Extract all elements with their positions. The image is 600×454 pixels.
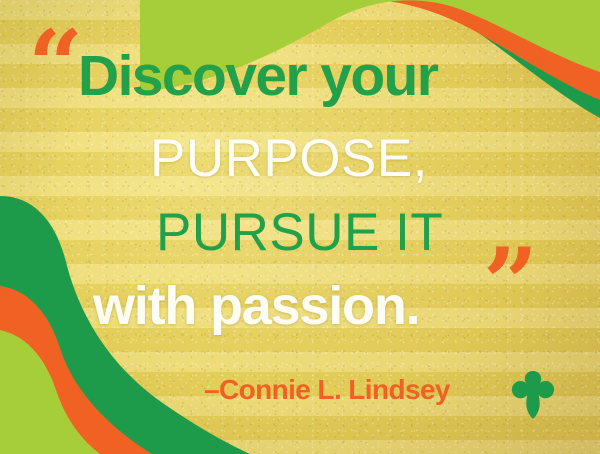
opening-quote-mark: “ <box>28 18 81 114</box>
quote-poster: “ Discover your PURPOSE, PURSUE IT with … <box>0 0 600 454</box>
quote-line-4: with passion. <box>93 279 419 333</box>
quote-line-2: PURPOSE, <box>150 132 428 185</box>
quote-line-3: PURSUE IT <box>156 206 443 259</box>
quote-line-1: Discover your <box>78 48 437 105</box>
girl-scouts-trefoil-icon <box>509 369 557 419</box>
quote-attribution: –Connie L. Lindsey <box>204 376 450 404</box>
closing-quote-mark: ” <box>483 236 536 332</box>
